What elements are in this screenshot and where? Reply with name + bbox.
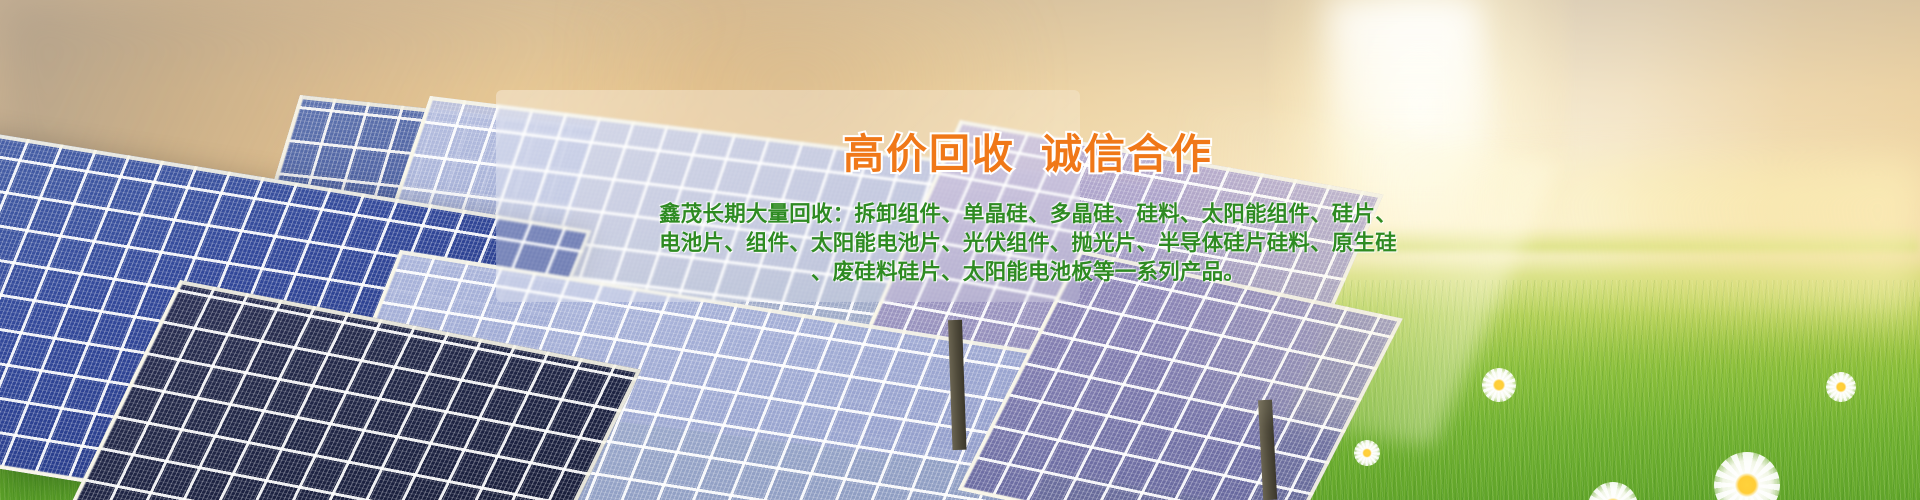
banner-headline: 高价回收诚信合作 [496,134,1560,175]
headline-part-2: 诚信合作 [1041,131,1213,177]
headline-part-1: 高价回收 [843,131,1015,177]
promo-banner: 高价回收诚信合作 鑫茂长期大量回收：拆卸组件、单晶硅、多晶硅、硅料、太阳能组件、… [0,0,1920,500]
description-line-3: 、废硅料硅片、太阳能电池板等一系列产品。 [496,258,1560,287]
description-line-1: 鑫茂长期大量回收：拆卸组件、单晶硅、多晶硅、硅料、太阳能组件、硅片、 [496,200,1560,229]
banner-description: 鑫茂长期大量回收：拆卸组件、单晶硅、多晶硅、硅料、太阳能组件、硅片、 电池片、组… [496,200,1560,287]
description-line-2: 电池片、组件、太阳能电池片、光伏组件、抛光片、半导体硅片硅料、原生硅 [496,229,1560,258]
